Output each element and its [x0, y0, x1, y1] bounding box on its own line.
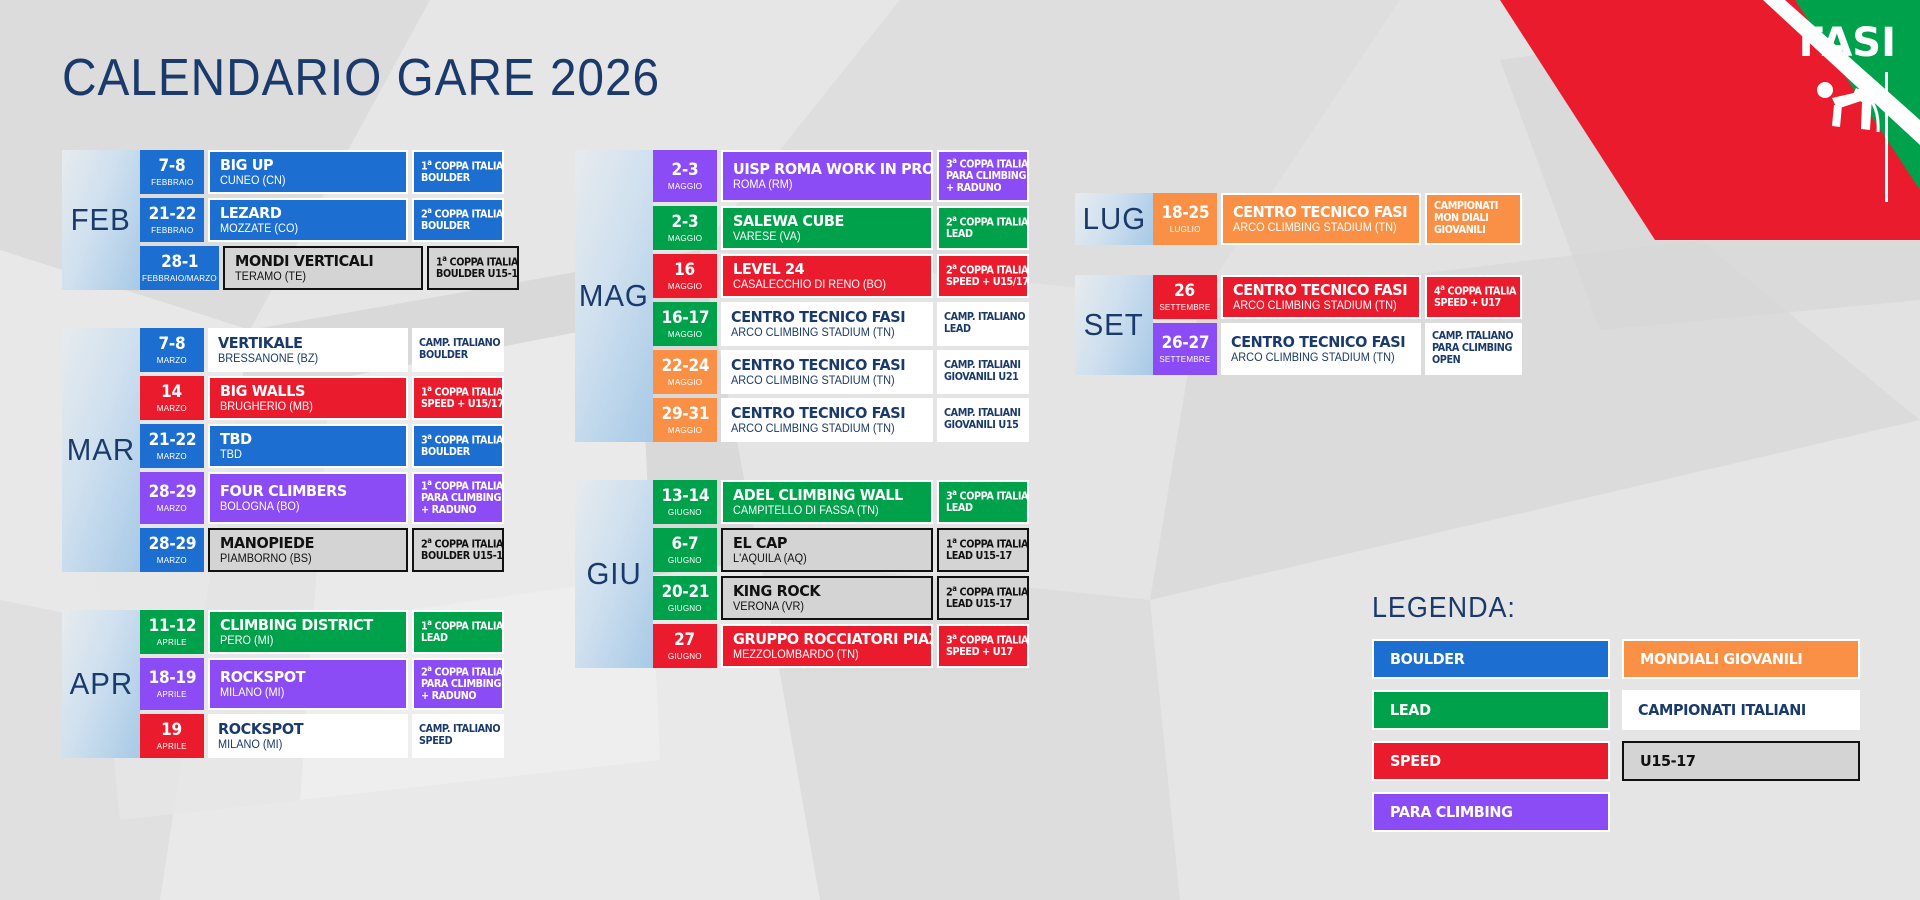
month-group-mar: MAR7-8MARZOVERTIKALEBRESSANONE (BZ)CAMP.… [62, 328, 504, 572]
month-rows: 18-25LUGLIOCENTRO TECNICO FASIARCO CLIMB… [1153, 193, 1522, 245]
event-info: CLIMBING DISTRICTPERO (MI) [208, 610, 408, 654]
event-info: CENTRO TECNICO FASIARCO CLIMBING STADIUM… [721, 350, 933, 394]
event-name: MANOPIEDE [220, 535, 384, 551]
event-location: MEZZOLOMBARDO (TN) [733, 649, 912, 662]
event-name: CENTRO TECNICO FASI [1233, 282, 1397, 298]
event-row[interactable]: 22-24MAGGIOCENTRO TECNICO FASIARCO CLIMB… [653, 350, 1029, 394]
event-location: ROMA (RM) [733, 179, 912, 192]
category-line: + RADUNO [421, 691, 489, 703]
event-category-badge: 1a COPPA ITALIASPEED + U15/17 [412, 376, 504, 420]
event-date: 26-27SETTEMBRE [1153, 323, 1217, 375]
event-date: 28-29MARZO [140, 528, 204, 572]
event-name: UISP ROMA WORK IN PROGRESS [733, 161, 908, 177]
category-line: BOULDER [421, 173, 489, 185]
event-day: 13-14 [661, 488, 709, 505]
event-month-name: MARZO [157, 452, 187, 461]
event-month-name: GIUGNO [668, 604, 702, 613]
event-day: 26 [1175, 283, 1196, 300]
event-category-badge: 3a COPPA ITALIASPEED + U17 [937, 624, 1029, 668]
event-name: TBD [220, 431, 384, 447]
event-day: 7-8 [159, 336, 186, 353]
event-location: MILANO (MI) [218, 739, 389, 752]
legend: LEGENDA: BOULDERLEADSPEEDPARA CLIMBING M… [1372, 592, 1862, 832]
category-line: BOULDER [421, 447, 489, 459]
event-category-badge: CAMPIONATIMON DIALIGIOVANILI [1425, 193, 1522, 245]
event-category-badge: 3a COPPA ITALIAPARA CLIMBING+ RADUNO [937, 150, 1029, 202]
event-location: CUNEO (CN) [220, 175, 387, 188]
event-row[interactable]: 18-19APRILEROCKSPOTMILANO (MI)2a COPPA I… [140, 658, 504, 710]
month-label-set: SET [1075, 275, 1153, 375]
event-date: 19APRILE [140, 714, 204, 758]
event-month-name: MAGGIO [668, 426, 702, 435]
event-info: FOUR CLIMBERSBOLOGNA (BO) [208, 472, 408, 524]
event-location: VARESE (VA) [733, 231, 912, 244]
category-line: 2a COPPA ITALIA [421, 665, 489, 679]
event-name: CENTRO TECNICO FASI [731, 309, 910, 325]
legend-item-speed[interactable]: SPEED [1372, 741, 1610, 781]
event-day: 28-29 [148, 536, 196, 553]
event-name: EL CAP [733, 535, 908, 551]
category-line: SPEED + U15/17 [421, 399, 489, 411]
event-category-badge: CAMP. ITALIANIGIOVANILI U15 [937, 398, 1029, 442]
event-date: 16MAGGIO [653, 254, 717, 298]
event-info: BIG UPCUNEO (CN) [208, 150, 408, 194]
event-name: FOUR CLIMBERS [220, 483, 384, 499]
month-group-giu: GIU13-14GIUGNOADEL CLIMBING WALLCAMPITEL… [575, 480, 1029, 668]
event-day: 28-1 [161, 254, 198, 271]
event-info: MANOPIEDEPIAMBORNO (BS) [208, 528, 408, 572]
event-name: CENTRO TECNICO FASI [1231, 334, 1398, 350]
month-label-mag: MAG [575, 150, 653, 442]
month-group-feb: FEB7-8FEBBRAIOBIG UPCUNEO (CN)1a COPPA I… [62, 150, 519, 290]
event-category-badge: 2a COPPA ITALIALEAD [937, 206, 1029, 250]
event-day: 18-19 [148, 670, 196, 687]
category-line: 1a COPPA ITALIA [436, 255, 504, 269]
category-line: GIOVANILI U21 [944, 372, 1016, 384]
event-row[interactable]: 2-3MAGGIOSALEWA CUBEVARESE (VA)2a COPPA … [653, 206, 1029, 250]
legend-item-mondiali-giovanili[interactable]: MONDIALI GIOVANILI [1622, 639, 1860, 679]
month-label-lug: LUG [1075, 193, 1153, 245]
month-label-feb: FEB [62, 150, 140, 290]
event-month-name: FEBBRAIO/MARZO [142, 274, 217, 283]
event-day: 6-7 [672, 536, 699, 553]
event-info: SALEWA CUBEVARESE (VA) [721, 206, 933, 250]
category-line: SPEED + U15/17 [946, 277, 1014, 289]
event-category-badge: 3a COPPA ITALIALEAD [937, 480, 1029, 524]
month-label-giu: GIU [575, 480, 653, 668]
event-date: 27GIUGNO [653, 624, 717, 668]
event-day: 16 [675, 262, 696, 279]
event-row[interactable]: 28-29MARZOFOUR CLIMBERSBOLOGNA (BO)1a CO… [140, 472, 504, 524]
event-month-name: GIUGNO [668, 652, 702, 661]
event-location: BRUGHERIO (MB) [220, 401, 387, 414]
legend-item-u15-17[interactable]: U15-17 [1622, 741, 1860, 781]
event-info: LEZARDMOZZATE (CO) [208, 198, 408, 242]
event-location: TERAMO (TE) [235, 271, 402, 284]
category-line: GIOVANILI [1434, 225, 1507, 237]
category-line: 3a COPPA ITALIA [946, 157, 1014, 171]
event-info: CENTRO TECNICO FASIARCO CLIMBING STADIUM… [1221, 323, 1421, 375]
month-rows: 7-8MARZOVERTIKALEBRESSANONE (BZ)CAMP. IT… [140, 328, 504, 572]
event-row[interactable]: 21-22MARZOTBDTBD3a COPPA ITALIABOULDER [140, 424, 504, 468]
event-row[interactable]: 7-8MARZOVERTIKALEBRESSANONE (BZ)CAMP. IT… [140, 328, 504, 372]
month-rows: 11-12APRILECLIMBING DISTRICTPERO (MI)1a … [140, 610, 504, 758]
event-location: ARCO CLIMBING STADIUM (TN) [731, 327, 913, 340]
category-line: BOULDER U15-17 [421, 551, 489, 563]
event-info: KING ROCKVERONA (VR) [721, 576, 933, 620]
event-day: 11-12 [148, 618, 196, 635]
event-category-badge: 1a COPPA ITALIABOULDER U15-17 [427, 246, 519, 290]
month-rows: 26SETTEMBRECENTRO TECNICO FASIARCO CLIMB… [1153, 275, 1522, 375]
category-line: LEAD [946, 503, 1014, 515]
event-date: 26SETTEMBRE [1153, 275, 1217, 319]
event-day: 19 [162, 722, 183, 739]
event-name: CENTRO TECNICO FASI [731, 405, 910, 421]
event-date: 18-19APRILE [140, 658, 204, 710]
event-month-name: MARZO [157, 556, 187, 565]
event-date: 29-31MAGGIO [653, 398, 717, 442]
event-name: BIG WALLS [220, 383, 384, 399]
event-name: SALEWA CUBE [733, 213, 908, 229]
event-category-badge: CAMP. ITALIANIGIOVANILI U21 [937, 350, 1029, 394]
event-month-name: APRILE [157, 742, 187, 751]
event-day: 20-21 [661, 584, 709, 601]
event-month-name: SETTEMBRE [1159, 355, 1210, 364]
event-category-badge: 2a COPPA ITALIABOULDER U15-17 [412, 528, 504, 572]
event-day: 27 [675, 632, 696, 649]
legend-item-campionati-italiani[interactable]: CAMPIONATI ITALIANI [1622, 690, 1860, 730]
event-info: VERTIKALEBRESSANONE (BZ) [208, 328, 408, 372]
event-category-badge: 1a COPPA ITALIAPARA CLIMBING+ RADUNO [412, 472, 504, 524]
event-location: TBD [220, 449, 387, 462]
event-info: LEVEL 24CASALECCHIO DI RENO (BO) [721, 254, 933, 298]
event-location: BRESSANONE (BZ) [218, 353, 389, 366]
event-location: ARCO CLIMBING STADIUM (TN) [731, 375, 913, 388]
event-date: 21-22MARZO [140, 424, 204, 468]
category-line: 2a COPPA ITALIA [421, 207, 489, 221]
category-line: 4a COPPA ITALIA [1434, 284, 1507, 298]
event-date: 22-24MAGGIO [653, 350, 717, 394]
month-label-mar: MAR [62, 328, 140, 572]
event-month-name: GIUGNO [668, 556, 702, 565]
event-month-name: MAGGIO [668, 182, 702, 191]
event-month-name: MAGGIO [668, 378, 702, 387]
event-category-badge: 1a COPPA ITALIALEAD [412, 610, 504, 654]
event-month-name: APRILE [157, 638, 187, 647]
event-info: ROCKSPOTMILANO (MI) [208, 714, 408, 758]
event-location: MOZZATE (CO) [220, 223, 387, 236]
event-name: CENTRO TECNICO FASI [731, 357, 910, 373]
event-date: 21-22FEBBRAIO [140, 198, 204, 242]
legend-item-label: PARA CLIMBING [1390, 803, 1513, 821]
category-line: 3a COPPA ITALIA [946, 633, 1014, 647]
event-row[interactable]: 26-27SETTEMBRECENTRO TECNICO FASIARCO CL… [1153, 323, 1522, 375]
event-category-badge: CAMP. ITALIANOLEAD [937, 302, 1029, 346]
event-date: 28-1FEBBRAIO/MARZO [140, 246, 219, 290]
event-location: ARCO CLIMBING STADIUM (TN) [1231, 352, 1402, 365]
event-row[interactable]: 28-29MARZOMANOPIEDEPIAMBORNO (BS)2a COPP… [140, 528, 504, 572]
calendar-poster: FASI CALENDARIO GARE 2026 FEB7-8FEBBRAIO… [0, 0, 1920, 900]
event-day: 21-22 [148, 432, 196, 449]
legend-item-label: MONDIALI GIOVANILI [1640, 650, 1802, 668]
event-name: BIG UP [220, 157, 384, 173]
legend-item-para-climbing[interactable]: PARA CLIMBING [1372, 792, 1610, 832]
event-month-name: APRILE [157, 690, 187, 699]
event-name: VERTIKALE [218, 335, 385, 351]
month-rows: 7-8FEBBRAIOBIG UPCUNEO (CN)1a COPPA ITAL… [140, 150, 519, 290]
event-row[interactable]: 14MARZOBIG WALLSBRUGHERIO (MB)1a COPPA I… [140, 376, 504, 420]
event-row[interactable]: 18-25LUGLIOCENTRO TECNICO FASIARCO CLIMB… [1153, 193, 1522, 245]
event-date: 18-25LUGLIO [1153, 193, 1217, 245]
event-day: 21-22 [148, 206, 196, 223]
event-name: ROCKSPOT [220, 669, 384, 685]
category-line: 1a COPPA ITALIA [421, 619, 489, 633]
event-location: ARCO CLIMBING STADIUM (TN) [1233, 222, 1400, 235]
event-category-badge: 1a COPPA ITALIALEAD U15-17 [937, 528, 1029, 572]
event-row[interactable]: 27GIUGNOGRUPPO ROCCIATORI PIAZMEZZOLOMBA… [653, 624, 1029, 668]
event-name: CLIMBING DISTRICT [220, 617, 384, 633]
legend-item-label: U15-17 [1640, 752, 1696, 770]
event-month-name: MARZO [157, 356, 187, 365]
event-category-badge: 4a COPPA ITALIASPEED + U17 [1425, 275, 1522, 319]
legend-item-boulder[interactable]: BOULDER [1372, 639, 1610, 679]
event-category-badge: CAMP. ITALIANOPARA CLIMBINGOPEN [1425, 323, 1522, 375]
event-row[interactable]: 21-22FEBBRAIOLEZARDMOZZATE (CO)2a COPPA … [140, 198, 519, 242]
event-date: 2-3MAGGIO [653, 150, 717, 202]
event-row[interactable]: 29-31MAGGIOCENTRO TECNICO FASIARCO CLIMB… [653, 398, 1029, 442]
event-name: LEVEL 24 [733, 261, 908, 277]
event-day: 16-17 [661, 310, 709, 327]
event-category-badge: CAMP. ITALIANOBOULDER [412, 328, 504, 372]
event-month-name: FEBBRAIO [151, 178, 193, 187]
event-category-badge: 2a COPPA ITALIALEAD U15-17 [937, 576, 1029, 620]
event-month-name: MAGGIO [668, 282, 702, 291]
event-info: ADEL CLIMBING WALLCAMPITELLO DI FASSA (T… [721, 480, 933, 524]
event-category-badge: CAMP. ITALIANOSPEED [412, 714, 504, 758]
event-name: GRUPPO ROCCIATORI PIAZ [733, 631, 908, 647]
event-day: 22-24 [661, 358, 709, 375]
event-date: 14MARZO [140, 376, 204, 420]
event-month-name: MARZO [157, 404, 187, 413]
event-day: 26-27 [1161, 335, 1209, 352]
event-info: CENTRO TECNICO FASIARCO CLIMBING STADIUM… [1221, 193, 1421, 245]
event-day: 18-25 [1161, 205, 1209, 222]
event-name: CENTRO TECNICO FASI [1233, 204, 1397, 220]
category-line: LEAD [421, 633, 489, 645]
category-line: LEAD [944, 324, 1016, 336]
event-date: 28-29MARZO [140, 472, 204, 524]
legend-item-label: LEAD [1390, 701, 1431, 719]
event-day: 29-31 [661, 406, 709, 423]
category-line: 3a COPPA ITALIA [421, 433, 489, 447]
legend-item-lead[interactable]: LEAD [1372, 690, 1610, 730]
category-line: BOULDER U15-17 [436, 269, 504, 281]
category-line: + RADUNO [421, 505, 489, 517]
event-row[interactable]: 2-3MAGGIOUISP ROMA WORK IN PROGRESSROMA … [653, 150, 1029, 202]
event-info: CENTRO TECNICO FASIARCO CLIMBING STADIUM… [1221, 275, 1421, 319]
category-line: 2a COPPA ITALIA [946, 585, 1014, 599]
category-line: 1a COPPA ITALIA [421, 385, 489, 399]
category-line: SPEED + U17 [1434, 298, 1507, 310]
category-line: BOULDER [419, 350, 491, 362]
event-month-name: MARZO [157, 504, 187, 513]
event-day: 7-8 [159, 158, 186, 175]
event-month-name: GIUGNO [668, 508, 702, 517]
category-line: + RADUNO [946, 183, 1014, 195]
category-line: OPEN [1432, 355, 1508, 367]
event-info: BIG WALLSBRUGHERIO (MB) [208, 376, 408, 420]
event-location: CASALECCHIO DI RENO (BO) [733, 279, 912, 292]
category-line: LEAD U15-17 [946, 599, 1014, 611]
event-month-name: MAGGIO [668, 234, 702, 243]
month-label-apr: APR [62, 610, 140, 758]
event-info: ROCKSPOTMILANO (MI) [208, 658, 408, 710]
event-location: ARCO CLIMBING STADIUM (TN) [1233, 300, 1400, 313]
event-day: 2-3 [672, 162, 699, 179]
event-location: L'AQUILA (AQ) [733, 553, 912, 566]
legend-title: LEGENDA: [1372, 592, 1828, 625]
category-line: 3a COPPA ITALIA [946, 489, 1014, 503]
month-group-mag: MAG2-3MAGGIOUISP ROMA WORK IN PROGRESSRO… [575, 150, 1029, 442]
category-line: 1a COPPA ITALIA [421, 159, 489, 173]
category-line: BOULDER [421, 221, 489, 233]
event-month-name: SETTEMBRE [1159, 303, 1210, 312]
event-name: KING ROCK [733, 583, 908, 599]
event-day: 28-29 [148, 484, 196, 501]
event-category-badge: 2a COPPA ITALIAPARA CLIMBING+ RADUNO [412, 658, 504, 710]
category-line: SPEED + U17 [946, 647, 1014, 659]
event-row[interactable]: 26SETTEMBRECENTRO TECNICO FASIARCO CLIMB… [1153, 275, 1522, 319]
month-group-set: SET26SETTEMBRECENTRO TECNICO FASIARCO CL… [1075, 275, 1522, 375]
legend-item-label: SPEED [1390, 752, 1441, 770]
event-row[interactable]: 16MAGGIOLEVEL 24CASALECCHIO DI RENO (BO)… [653, 254, 1029, 298]
legend-item-label: BOULDER [1390, 650, 1464, 668]
event-day: 2-3 [672, 214, 699, 231]
event-info: GRUPPO ROCCIATORI PIAZMEZZOLOMBARDO (TN) [721, 624, 933, 668]
event-date: 11-12APRILE [140, 610, 204, 654]
event-location: MILANO (MI) [220, 687, 387, 700]
event-location: PERO (MI) [220, 635, 387, 648]
svg-text:FASI: FASI [1799, 20, 1896, 66]
event-row[interactable]: 28-1FEBBRAIO/MARZOMONDI VERTICALITERAMO … [140, 246, 519, 290]
month-rows: 13-14GIUGNOADEL CLIMBING WALLCAMPITELLO … [653, 480, 1029, 668]
category-line: 1a COPPA ITALIA [421, 479, 489, 493]
event-category-badge: 3a COPPA ITALIABOULDER [412, 424, 504, 468]
event-row[interactable]: 11-12APRILECLIMBING DISTRICTPERO (MI)1a … [140, 610, 504, 654]
event-date: 20-21GIUGNO [653, 576, 717, 620]
event-row[interactable]: 6-7GIUGNOEL CAPL'AQUILA (AQ)1a COPPA ITA… [653, 528, 1029, 572]
event-date: 16-17MAGGIO [653, 302, 717, 346]
event-name: ROCKSPOT [218, 721, 385, 737]
event-month-name: FEBBRAIO [151, 226, 193, 235]
event-location: ARCO CLIMBING STADIUM (TN) [731, 423, 913, 436]
event-day: 14 [162, 384, 183, 401]
legend-item-label: CAMPIONATI ITALIANI [1638, 701, 1806, 719]
legend-column-left: BOULDERLEADSPEEDPARA CLIMBING [1372, 639, 1610, 832]
category-line: LEAD [946, 229, 1014, 241]
event-month-name: LUGLIO [1170, 225, 1201, 234]
event-info: MONDI VERTICALITERAMO (TE) [223, 246, 423, 290]
category-line: LEAD U15-17 [946, 551, 1014, 563]
month-group-apr: APR11-12APRILECLIMBING DISTRICTPERO (MI)… [62, 610, 504, 758]
event-date: 7-8MARZO [140, 328, 204, 372]
event-category-badge: 1a COPPA ITALIABOULDER [412, 150, 504, 194]
event-date: 2-3MAGGIO [653, 206, 717, 250]
category-line: 1a COPPA ITALIA [946, 537, 1014, 551]
event-location: PIAMBORNO (BS) [220, 553, 387, 566]
month-rows: 2-3MAGGIOUISP ROMA WORK IN PROGRESSROMA … [653, 150, 1029, 442]
legend-column-right: MONDIALI GIOVANILICAMPIONATI ITALIANIU15… [1622, 639, 1860, 832]
month-group-lug: LUG18-25LUGLIOCENTRO TECNICO FASIARCO CL… [1075, 193, 1522, 245]
event-name: ADEL CLIMBING WALL [733, 487, 908, 503]
event-category-badge: 2a COPPA ITALIASPEED + U15/17 [937, 254, 1029, 298]
event-date: 6-7GIUGNO [653, 528, 717, 572]
page-title: CALENDARIO GARE 2026 [62, 48, 660, 108]
event-location: BOLOGNA (BO) [220, 501, 387, 514]
event-category-badge: 2a COPPA ITALIABOULDER [412, 198, 504, 242]
event-row[interactable]: 16-17MAGGIOCENTRO TECNICO FASIARCO CLIMB… [653, 302, 1029, 346]
event-name: LEZARD [220, 205, 384, 221]
event-location: VERONA (VR) [733, 601, 912, 614]
event-info: TBDTBD [208, 424, 408, 468]
event-date: 13-14GIUGNO [653, 480, 717, 524]
category-line: 2a COPPA ITALIA [421, 537, 489, 551]
category-line: 2a COPPA ITALIA [946, 263, 1014, 277]
event-name: MONDI VERTICALI [235, 253, 399, 269]
event-row[interactable]: 20-21GIUGNOKING ROCKVERONA (VR)2a COPPA … [653, 576, 1029, 620]
category-line: 2a COPPA ITALIA [946, 215, 1014, 229]
event-row[interactable]: 13-14GIUGNOADEL CLIMBING WALLCAMPITELLO … [653, 480, 1029, 524]
category-line: GIOVANILI U15 [944, 420, 1016, 432]
event-row[interactable]: 7-8FEBBRAIOBIG UPCUNEO (CN)1a COPPA ITAL… [140, 150, 519, 194]
event-location: CAMPITELLO DI FASSA (TN) [733, 505, 912, 518]
event-month-name: MAGGIO [668, 330, 702, 339]
category-line: SPEED [419, 736, 491, 748]
event-row[interactable]: 19APRILEROCKSPOTMILANO (MI)CAMP. ITALIAN… [140, 714, 504, 758]
event-info: EL CAPL'AQUILA (AQ) [721, 528, 933, 572]
event-date: 7-8FEBBRAIO [140, 150, 204, 194]
event-info: UISP ROMA WORK IN PROGRESSROMA (RM) [721, 150, 933, 202]
event-info: CENTRO TECNICO FASIARCO CLIMBING STADIUM… [721, 398, 933, 442]
event-info: CENTRO TECNICO FASIARCO CLIMBING STADIUM… [721, 302, 933, 346]
